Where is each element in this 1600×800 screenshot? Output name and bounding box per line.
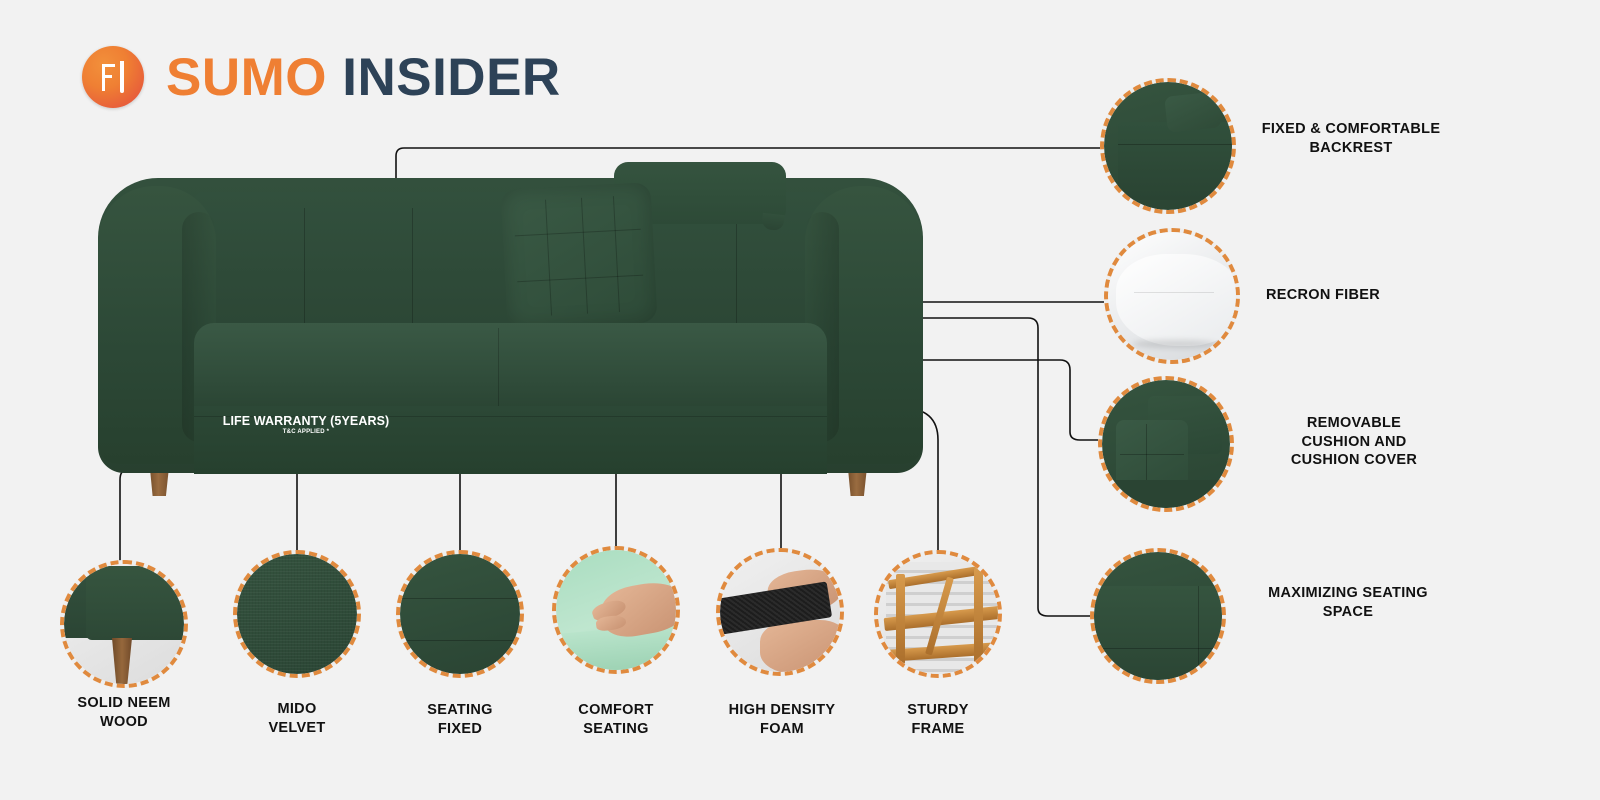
feature-thumb-comfort-seating[interactable]: [552, 546, 680, 674]
feature-thumb-backrest[interactable]: [1100, 78, 1236, 214]
feature-label-backrest: FIXED & COMFORTABLE BACKREST: [1248, 120, 1454, 157]
feature-thumb-seating-space[interactable]: [1090, 548, 1226, 684]
sofa-seat: [194, 323, 827, 411]
feature-thumb-sturdy-frame[interactable]: [874, 550, 1002, 678]
sofa-throw-pillow: [500, 182, 657, 330]
feature-label-mido-velvet: MIDO VELVET: [209, 700, 385, 737]
feature-thumb-recron-fiber[interactable]: [1104, 228, 1240, 364]
feature-label-sturdy-frame: STURDY FRAME: [850, 701, 1026, 738]
feature-label-high-density-foam: HIGH DENSITY FOAM: [694, 701, 870, 738]
feature-label-seating-fixed: SEATING FIXED: [372, 701, 548, 738]
feature-thumb-neem-wood[interactable]: [60, 560, 188, 688]
feature-thumb-high-density-foam[interactable]: [716, 548, 844, 676]
feature-thumb-seating-fixed[interactable]: [396, 550, 524, 678]
feature-thumb-mido-velvet[interactable]: [233, 550, 361, 678]
feature-label-neem-wood: SOLID NEEM WOOD: [36, 694, 212, 731]
brand-header: SUMO INSIDER: [82, 46, 561, 108]
feature-label-recron-fiber: RECRON FIBER: [1266, 286, 1486, 305]
fi-monogram-icon: [82, 46, 144, 108]
feature-thumb-removable-cushion[interactable]: [1098, 376, 1234, 512]
feature-label-removable-cushion: REMOVABLE CUSHION AND CUSHION COVER: [1254, 414, 1454, 470]
infographic-canvas: SUMO INSIDER: [0, 0, 1600, 800]
sofa-illustration: LIFE WARRANTY (5YEARS) T&C APPLIED *: [98, 170, 923, 500]
feature-label-seating-space: MAXIMIZING SEATING SPACE: [1248, 584, 1448, 621]
sofa-body: LIFE WARRANTY (5YEARS) T&C APPLIED *: [98, 178, 923, 473]
feature-label-comfort-seating: COMFORT SEATING: [528, 701, 704, 738]
brand-name-secondary: INSIDER: [342, 48, 560, 107]
brand-name-primary: SUMO: [166, 48, 327, 107]
page-title: SUMO INSIDER: [166, 51, 561, 104]
